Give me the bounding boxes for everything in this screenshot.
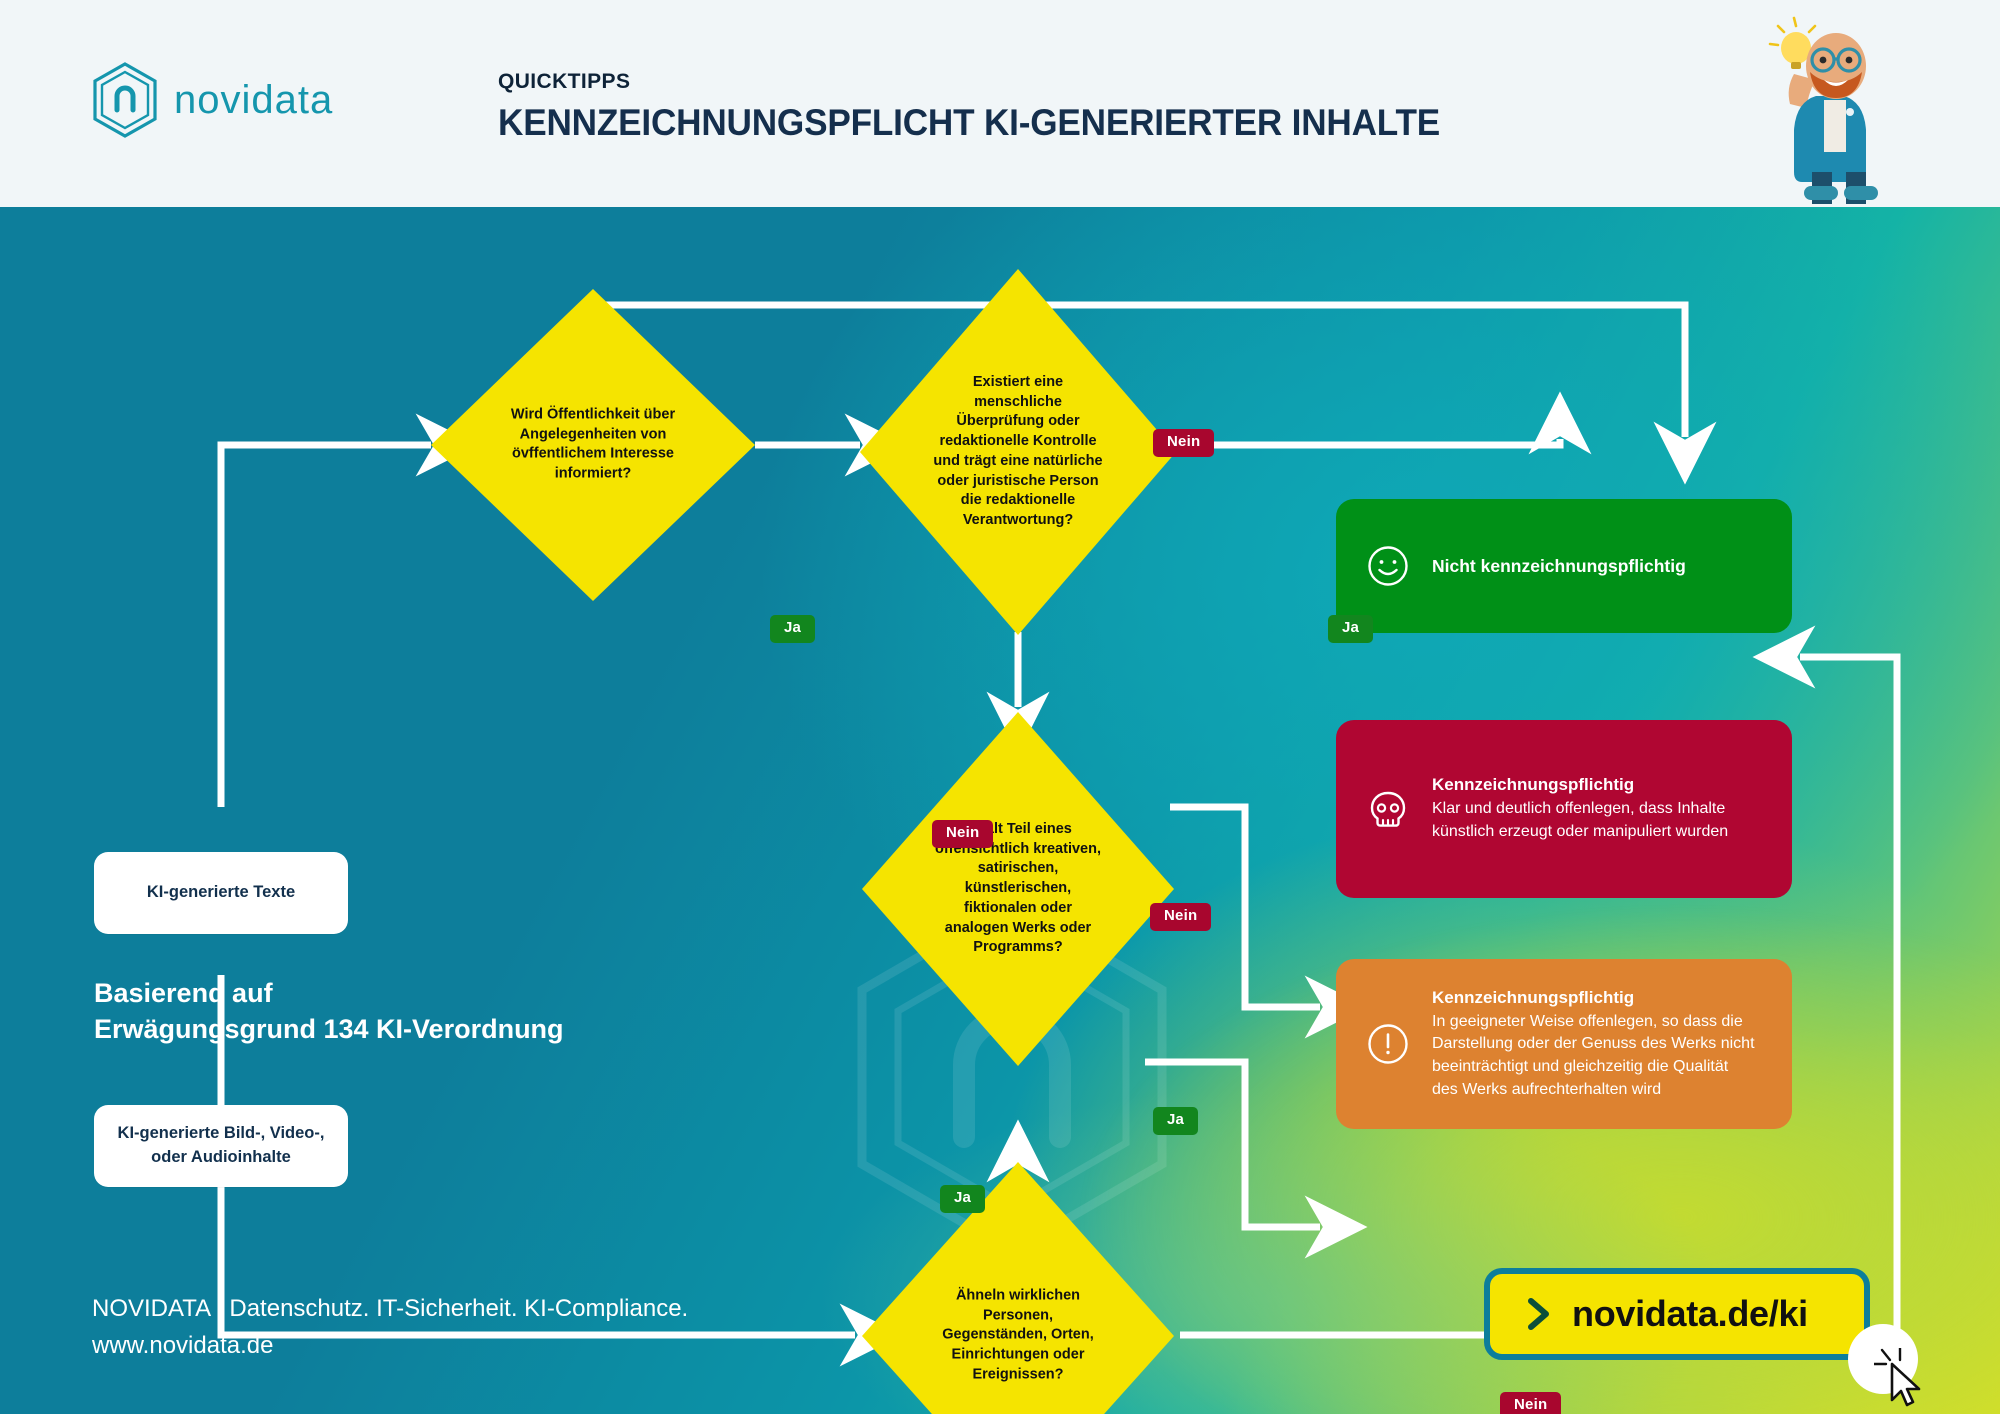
- outcome-required-clear-title: Kennzeichnungspflichtig: [1432, 774, 1728, 796]
- chevron-right-icon: [1526, 1298, 1552, 1330]
- skull-icon: [1366, 787, 1410, 831]
- outcome-not-required[interactable]: Nicht kennzeichnungspflichtig: [1336, 499, 1792, 633]
- decision-node-resembles-real[interactable]: Ähneln wirklichen Personen, Gegenständen…: [862, 1162, 1174, 1414]
- outcome-required-appropriate-body: In geeigneter Weise offenlegen, so dass …: [1432, 1011, 1755, 1102]
- input-node-media[interactable]: KI-generierte Bild-, Video-, oder Audioi…: [94, 1105, 348, 1187]
- edge-label-d3-no: Nein: [1150, 903, 1211, 931]
- edge-label-d4-yes: Ja: [940, 1185, 985, 1213]
- kicker-label: QUICKTIPPS: [498, 70, 1490, 94]
- edge-label-d2-no: Nein: [932, 820, 993, 848]
- decision-node-human-review-label: Existiert eine menschliche Überprüfung o…: [907, 373, 1128, 531]
- outcome-required-clear-text: Kennzeichnungspflichtig Klar und deutlic…: [1432, 774, 1728, 844]
- footer-company-line: NOVIDATA | Datenschutz. IT-Sicherheit. K…: [92, 1290, 688, 1364]
- page-title: KENNZEICHNUNGSPFLICHT KI-GENERIERTER INH…: [498, 102, 1440, 144]
- novidata-hexagon-logo-icon: [92, 62, 158, 138]
- outcome-required-clear[interactable]: Kennzeichnungspflichtig Klar und deutlic…: [1336, 720, 1792, 898]
- smiley-face-icon: [1366, 544, 1410, 588]
- decision-node-public-interest[interactable]: Wird Öffentlichkeit über Angelegenheiten…: [431, 289, 755, 601]
- click-cursor-icon: [1874, 1348, 1928, 1410]
- edge-label-d4-no: Nein: [1500, 1392, 1561, 1414]
- input-node-texts[interactable]: KI-generierte Texte: [94, 852, 348, 934]
- decision-node-public-interest-label: Wird Öffentlichkeit über Angelegenheiten…: [480, 406, 707, 485]
- exclamation-circle-icon: [1366, 1022, 1410, 1066]
- infographic-page: novidata QUICKTIPPS KENNZEICHNUNGSPFLICH…: [0, 0, 2000, 1414]
- edge-label-d1-yes: Ja: [770, 615, 815, 643]
- header-bar: novidata QUICKTIPPS KENNZEICHNUNGSPFLICH…: [0, 0, 2000, 207]
- outcome-required-appropriate[interactable]: Kennzeichnungspflichtig In geeigneter We…: [1336, 959, 1792, 1129]
- logo-wordmark: novidata: [174, 78, 333, 123]
- edge-label-d2-yes: Ja: [1328, 615, 1373, 643]
- decision-node-resembles-real-label: Ähneln wirklichen Personen, Gegenständen…: [909, 1287, 1127, 1386]
- edge-label-d3-yes: Ja: [1153, 1107, 1198, 1135]
- basis-note: Basierend auf Erwägungsgrund 134 KI-Vero…: [94, 975, 564, 1047]
- cta-button-label: novidata.de/ki: [1572, 1293, 1808, 1335]
- mascot-idea-man-illustration-icon: [1754, 4, 1944, 204]
- decision-node-creative-work[interactable]: Inhalt Teil eines offensichtlich kreativ…: [862, 712, 1174, 1066]
- decision-node-human-review[interactable]: Existiert eine menschliche Überprüfung o…: [860, 269, 1176, 635]
- header-titles: QUICKTIPPS KENNZEICHNUNGSPFLICHT KI-GENE…: [498, 70, 1490, 144]
- outcome-required-clear-body: Klar und deutlich offenlegen, dass Inhal…: [1432, 798, 1728, 843]
- outcome-required-appropriate-text: Kennzeichnungspflichtig In geeigneter We…: [1432, 987, 1755, 1102]
- outcome-not-required-title: Nicht kennzeichnungspflichtig: [1432, 556, 1686, 577]
- cta-button[interactable]: novidata.de/ki: [1484, 1268, 1870, 1360]
- outcome-required-appropriate-title: Kennzeichnungspflichtig: [1432, 987, 1755, 1009]
- edge-label-d1-no: Nein: [1153, 429, 1214, 457]
- flowchart-canvas: KI-generierte Texte KI-generierte Bild-,…: [0, 207, 2000, 1414]
- brand-logo[interactable]: novidata: [92, 62, 333, 138]
- input-node-texts-label: KI-generierte Texte: [147, 881, 295, 905]
- outcome-not-required-text: Nicht kennzeichnungspflichtig: [1432, 556, 1686, 577]
- input-node-media-label: KI-generierte Bild-, Video-, oder Audioi…: [118, 1122, 325, 1170]
